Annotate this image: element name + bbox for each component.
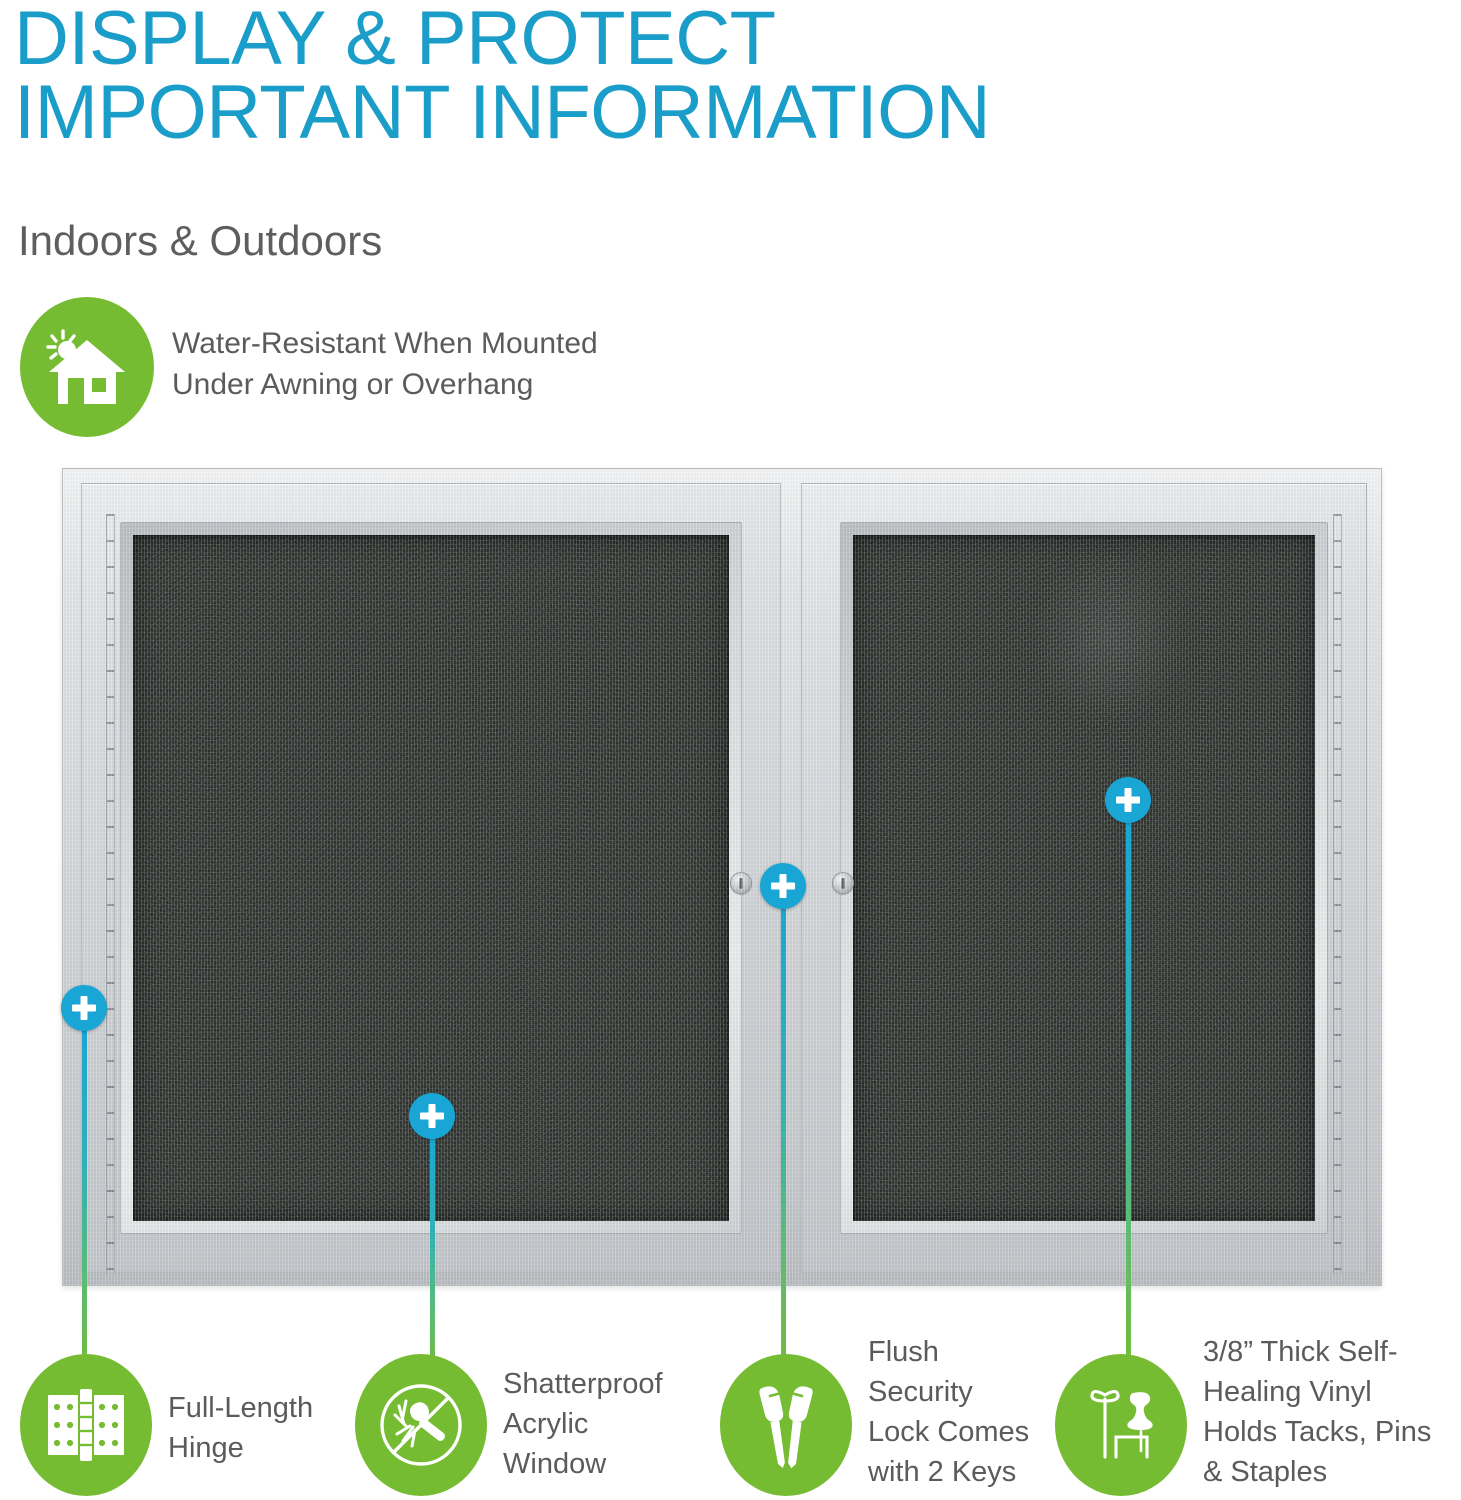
feature-water-resistant-label: Water-Resistant When Mounted Under Awnin…	[172, 323, 712, 405]
hinge-icon	[20, 1354, 152, 1496]
feature-water-resistant: Water-Resistant When Mounted Under Awnin…	[20, 297, 720, 437]
door-right-bevel	[840, 522, 1328, 1234]
leader-line-acrylic	[430, 1128, 435, 1390]
cabinet-frame	[62, 468, 1382, 1286]
infographic-canvas: DISPLAY & PROTECT IMPORTANT INFORMATION …	[0, 0, 1461, 1500]
two-keys-icon	[720, 1354, 852, 1496]
door-right[interactable]	[801, 483, 1367, 1273]
page-title: DISPLAY & PROTECT IMPORTANT INFORMATION	[14, 2, 1294, 150]
hinge-icon-right	[1333, 514, 1342, 1274]
leader-line-hinge	[82, 1020, 87, 1388]
product-image	[62, 468, 1382, 1286]
lock-cylinder-right[interactable]	[832, 872, 854, 894]
house-with-sun-icon	[20, 297, 154, 437]
pin-tack-staple-icon	[1055, 1354, 1187, 1496]
hotspot-hinge[interactable]	[61, 985, 107, 1031]
hotspot-lock[interactable]	[760, 863, 806, 909]
callout-vinyl-label: 3/8” Thick Self- Healing Vinyl Holds Tac…	[1203, 1332, 1461, 1492]
callout-acrylic-label: Shatterproof Acrylic Window	[503, 1364, 718, 1484]
page-subtitle: Indoors & Outdoors	[18, 218, 382, 264]
hotspot-vinyl[interactable]	[1105, 777, 1151, 823]
leader-line-vinyl	[1126, 812, 1131, 1390]
no-hammer-icon	[355, 1354, 487, 1496]
callout-hinge-label: Full-Length Hinge	[168, 1388, 378, 1468]
leader-line-lock	[781, 898, 786, 1390]
hinge-icon-left	[106, 514, 115, 1274]
hotspot-acrylic[interactable]	[409, 1093, 455, 1139]
lock-cylinder-left[interactable]	[730, 872, 752, 894]
vinyl-board-right	[853, 535, 1315, 1221]
